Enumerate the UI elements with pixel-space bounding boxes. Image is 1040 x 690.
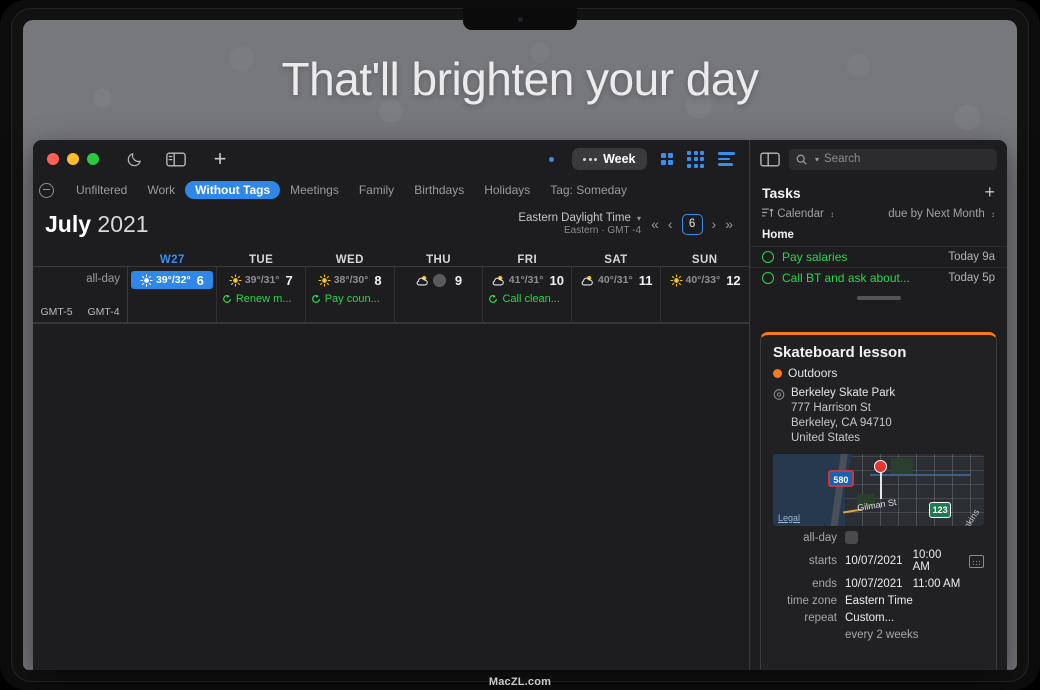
day-header-sun[interactable]: SUN [660,254,749,266]
weather-temps: 39°/31° [245,274,280,286]
tasks-title: Tasks [762,185,801,201]
location-name: Berkeley Skate Park [791,386,895,401]
due-filter-button[interactable]: due by Next Month ↕ [888,208,995,220]
list-view-icon[interactable] [718,152,735,166]
day-header-tue[interactable]: TUE [217,254,306,266]
sidebar-toggle-icon[interactable] [760,152,780,167]
field-repeat: repeat Custom... [773,612,984,624]
weather-day-7[interactable]: 39°/31°7 [220,271,302,289]
watermark: MacZL.com [0,676,1040,688]
all-day-row: all-day GMT-5 GMT-4 39°/32°639°/31°7Rene… [33,266,749,322]
calendar-color-dot [773,369,782,378]
partly-cloudy-icon [415,274,430,287]
month-name: July [45,211,91,237]
nav-first-button[interactable]: « [651,216,659,232]
all-day-label: all-day [33,273,127,285]
sort-label: Calendar [777,208,824,220]
sort-button[interactable]: Calendar ↕ [762,207,834,220]
weather-temps: 41°/31° [509,274,544,286]
weather-day-9[interactable]: 9 [398,271,480,289]
day-header-thu[interactable]: THU [394,254,483,266]
weather-temps: 39°/32° [156,274,191,286]
search-input[interactable]: ▾ Search [789,149,997,170]
all-day-event-name: Pay coun... [325,293,380,305]
page-title: July 2021 [45,211,149,238]
location-map[interactable]: 580 Gilman St 123 nkins Legal [773,454,984,526]
add-task-button[interactable]: + [984,182,995,203]
pane-resize-handle[interactable] [857,296,901,300]
starts-time[interactable]: 10:00 AM [913,549,961,573]
recurring-task-icon [488,294,498,304]
sun-icon [229,274,242,287]
month-year: 2021 [97,211,148,237]
ends-date[interactable]: 10/07/2021 [845,578,903,590]
map-legal-link[interactable]: Legal [778,513,800,523]
weather-day-8[interactable]: 38°/30°8 [309,271,391,289]
tag-unfiltered[interactable]: Unfiltered [66,181,137,199]
laptop-frame: That'll brighten your day + [0,0,1040,690]
timezone-selector[interactable]: Eastern Daylight Time ▾ Eastern · GMT -4 [518,212,641,236]
date-navigation: « ‹ 6 › » [651,214,737,235]
event-detail-card: Skateboard lesson Outdoors Berkeley Skat… [760,332,997,670]
sidebar-toggle-icon[interactable] [161,147,191,171]
timezone-label: time zone [773,595,845,607]
gmt-left-label: GMT-5 [33,306,80,318]
day-number: 12 [726,273,740,288]
all-day-columns: 39°/32°639°/31°7Renew m...38°/30°8Pay co… [128,267,749,322]
partly-cloudy-icon [580,274,595,287]
ends-time[interactable]: 11:00 AM [913,578,961,590]
inspector-toolbar: ▾ Search [750,140,1007,178]
sort-icon [762,207,774,218]
day-header-sat[interactable]: SAT [572,254,661,266]
moon-icon[interactable] [121,147,147,171]
recurring-task-icon [222,294,232,304]
status-dot [549,157,554,162]
all-day-event[interactable]: Call clean... [486,293,568,305]
tasks-subheader: Calendar ↕ due by Next Month ↕ [750,205,1007,226]
recurring-task-icon [311,294,321,304]
tag-without-tags[interactable]: Without Tags [185,181,280,199]
tag-family[interactable]: Family [349,181,404,199]
all-day-cell-sun[interactable]: 40°/33°12 [661,267,749,322]
today-button[interactable]: 6 [682,214,703,235]
task-group-home: Home [750,226,1007,246]
all-day-cell-wed[interactable]: 38°/30°8Pay coun... [306,267,395,322]
day-header-fri[interactable]: FRI [483,254,572,266]
list-item[interactable]: Pay salaries Today 9a [750,246,1007,267]
app-toolbar: + Week [33,140,749,178]
timezone-offset: Eastern · GMT -4 [518,225,641,236]
day-header-row: W27 TUE WED THU FRI SAT SUN [33,246,749,266]
tag-meetings[interactable]: Meetings [280,181,349,199]
map-pin-icon [874,460,887,499]
day-number: 8 [374,273,381,288]
task-due: Today 9a [948,251,995,263]
repeat-value[interactable]: Custom... [845,612,894,624]
weather-temps: 40°/31° [598,274,633,286]
event-calendar[interactable]: Outdoors [773,366,984,380]
all-day-cell-sat[interactable]: 40°/31°11 [572,267,661,322]
all-day-event[interactable]: Pay coun... [309,293,391,305]
field-ends: ends 10/07/2021 11:00 AM [773,578,984,590]
event-location: Berkeley Skate Park 777 Harrison St Berk… [773,386,984,446]
task-name: Call BT and ask about... [782,271,910,285]
nav-last-button[interactable]: » [725,216,733,232]
all-day-label: all-day [773,532,845,544]
all-day-cell-thu[interactable]: 9 [395,267,484,322]
partly-cloudy-icon [491,274,506,287]
field-repeat-detail: every 2 weeks [773,629,984,641]
repeat-detail: every 2 weeks [845,629,919,641]
weather-day-12[interactable]: 40°/33°12 [664,271,746,289]
minimize-button[interactable] [67,153,79,165]
weather-temps: 40°/33° [686,274,721,286]
sun-icon [670,274,683,287]
task-checkbox-icon[interactable] [762,272,774,284]
calendar-left-pane: + Week Unfiltered Work Without Tags [33,140,749,670]
grid-3x3-icon[interactable] [687,151,704,168]
weather-day-10[interactable]: 41°/31°10 [486,271,568,289]
weather-temps: 38°/30° [334,274,369,286]
all-day-event-name: Call clean... [502,293,559,305]
due-label: due by Next Month [888,208,985,220]
maximize-button[interactable] [87,153,99,165]
window-controls [47,153,99,165]
search-icon [796,154,807,165]
gmt-right-label: GMT-4 [80,306,127,318]
month-header-row: July 2021 Eastern Daylight Time ▾ Easter… [33,202,749,246]
all-day-event-name: Renew m... [236,293,292,305]
view-mode-week-button[interactable]: Week [572,148,646,170]
tag-someday[interactable]: Tag: Someday [540,181,637,199]
all-day-cell-fri[interactable]: 41°/31°10Call clean... [483,267,572,322]
starts-label: starts [773,555,845,567]
day-number: 9 [455,273,462,288]
time-grid[interactable]: Pay salari...Pick up stat... ↺6:30aYoga … [33,322,749,324]
day-header-w27[interactable]: W27 [128,254,217,266]
chevron-down-icon: ▾ [637,214,641,223]
sun-icon [140,274,153,287]
all-day-event[interactable]: Renew m... [220,293,302,305]
event-title: Skateboard lesson [773,344,984,361]
chevron-down-icon: ▾ [815,155,819,164]
calendar-picker-icon[interactable] [969,555,984,568]
tag-filter-bar: Unfiltered Work Without Tags Meetings Fa… [33,178,749,202]
map-park [891,458,913,474]
calendar-app-window: + Week Unfiltered Work Without Tags [33,140,1007,670]
nav-next-button[interactable]: › [712,216,717,232]
task-recurring-icon[interactable] [762,251,774,263]
highway-shield-icon: 580 [828,470,854,487]
location-city: Berkeley, CA 94710 [791,416,895,431]
moon-phase-icon [433,274,446,287]
inspector-pane: ▾ Search Tasks + Calendar ↕ due by Next … [749,140,1007,670]
minus-circle-icon[interactable] [39,183,54,198]
day-header-wed[interactable]: WED [305,254,394,266]
field-starts: starts 10/07/2021 10:00 AM [773,549,984,573]
headline-text: That'll brighten your day [0,52,1040,106]
location-pin-icon [773,388,785,401]
search-placeholder: Search [824,153,860,165]
sun-icon [318,274,331,287]
timezone-value[interactable]: Eastern Time [845,595,913,607]
day-number: 10 [549,273,563,288]
task-due: Today 5p [948,272,995,284]
stepper-icon: ↕ [830,210,834,219]
gmt-labels: GMT-5 GMT-4 [33,306,127,318]
day-number: 6 [197,273,204,288]
day-number: 7 [286,273,293,288]
grid-2x2-icon[interactable] [661,153,674,166]
list-item[interactable]: Call BT and ask about... Today 5p [750,267,1007,288]
tag-holidays[interactable]: Holidays [474,181,540,199]
repeat-label: repeat [773,612,845,624]
calendar-name: Outdoors [788,366,837,380]
weather-day-11[interactable]: 40°/31°11 [575,271,657,289]
view-mode-label: Week [603,152,635,166]
nav-prev-button[interactable]: ‹ [668,216,673,232]
ends-label: ends [773,578,845,590]
tag-work[interactable]: Work [137,181,185,199]
all-day-cell-w27[interactable]: 39°/32°6 [128,267,217,322]
all-day-checkbox[interactable] [845,531,858,544]
dots-icon [583,158,597,161]
weather-day-6[interactable]: 39°/32°6 [131,271,213,289]
field-all-day: all-day [773,531,984,544]
field-timezone: time zone Eastern Time [773,595,984,607]
location-country: United States [791,431,895,446]
toolbar-right-group: Week [549,148,739,170]
day-number: 11 [639,273,653,288]
all-day-cell-tue[interactable]: 39°/31°7Renew m... [217,267,306,322]
tag-birthdays[interactable]: Birthdays [404,181,474,199]
tasks-header: Tasks + [750,178,1007,205]
task-name: Pay salaries [782,250,847,264]
location-street: 777 Harrison St [791,401,895,416]
camera-icon [518,17,523,22]
timezone-name: Eastern Daylight Time [518,212,631,224]
stepper-icon: ↕ [991,210,995,219]
camera-notch [463,8,577,30]
plus-icon[interactable]: + [205,147,235,171]
close-button[interactable] [47,153,59,165]
route-shield-icon: 123 [929,502,951,518]
starts-date[interactable]: 10/07/2021 [845,555,903,567]
